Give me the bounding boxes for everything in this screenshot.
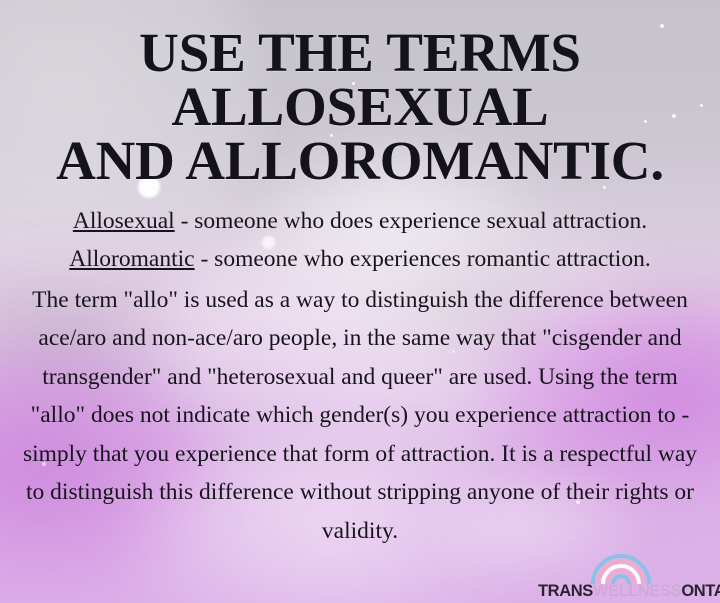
logo-text-ontario: ONTARIO bbox=[681, 582, 720, 600]
term-alloromantic: Alloromantic bbox=[69, 246, 194, 272]
infographic-poster: USE THE TERMS ALLOSEXUAL AND ALLOROMANTI… bbox=[0, 0, 720, 603]
logo-wordmark: TRANSWELLNESSONTARIO bbox=[538, 582, 714, 600]
headline-line-2: AND ALLOROMANTIC. bbox=[6, 134, 714, 188]
trans-wellness-ontario-logo[interactable]: TRANSWELLNESSONTARIO bbox=[538, 553, 714, 601]
definition-alloromantic: Alloromantic - someone who experiences r… bbox=[14, 240, 706, 279]
explanation-paragraph: The term "allo" is used as a way to dist… bbox=[14, 279, 706, 551]
headline-line-1: USE THE TERMS ALLOSEXUAL bbox=[6, 26, 714, 134]
definition-alloromantic-text: - someone who experiences romantic attra… bbox=[195, 246, 651, 272]
page-title: USE THE TERMS ALLOSEXUAL AND ALLOROMANTI… bbox=[0, 0, 720, 188]
body-text: Allosexual - someone who does experience… bbox=[0, 188, 720, 551]
term-allosexual: Allosexual bbox=[73, 208, 175, 234]
logo-text-trans: TRANS bbox=[538, 582, 593, 600]
rainbow-arc-icon bbox=[590, 553, 652, 585]
logo-text-wellness: WELLNESS bbox=[593, 582, 681, 600]
definition-allosexual: Allosexual - someone who does experience… bbox=[14, 202, 706, 241]
definition-allosexual-text: - someone who does experience sexual att… bbox=[175, 208, 647, 234]
poster-content: USE THE TERMS ALLOSEXUAL AND ALLOROMANTI… bbox=[0, 0, 720, 603]
